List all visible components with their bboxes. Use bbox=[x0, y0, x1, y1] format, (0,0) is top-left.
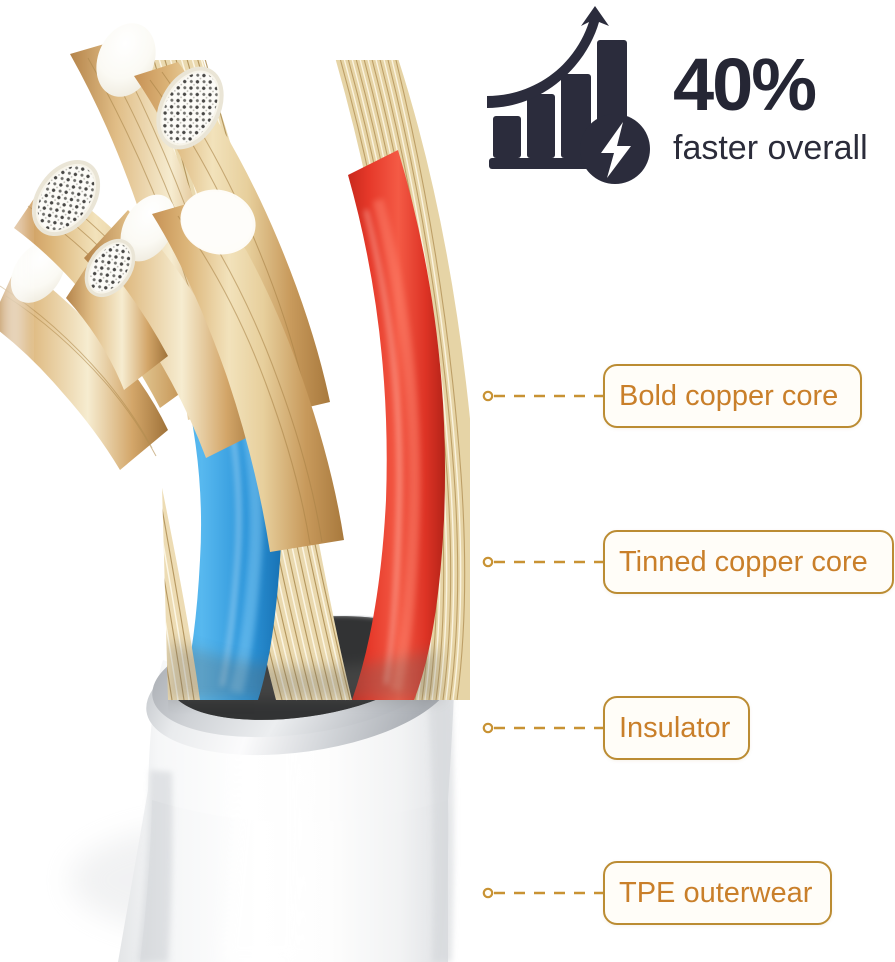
callout-box[interactable]: Bold copper core bbox=[603, 364, 862, 428]
callout-label: Insulator bbox=[619, 712, 730, 745]
callout-tinned-copper-core: Tinned copper core bbox=[482, 530, 894, 594]
callout-insulator: Insulator bbox=[482, 696, 750, 760]
leader-line-icon bbox=[482, 364, 612, 428]
callout-tpe-outerwear: TPE outerwear bbox=[482, 861, 832, 925]
stat-caption: faster overall bbox=[673, 128, 895, 168]
infographic-canvas: 40% faster overall Bold copper core Tinn… bbox=[0, 0, 895, 962]
callout-label: TPE outerwear bbox=[619, 877, 812, 910]
leader-line-icon bbox=[482, 861, 612, 925]
callout-label: Bold copper core bbox=[619, 380, 838, 413]
callout-box[interactable]: Insulator bbox=[603, 696, 750, 760]
callout-box[interactable]: Tinned copper core bbox=[603, 530, 894, 594]
growth-chart-lightning-icon bbox=[485, 2, 665, 187]
callout-box[interactable]: TPE outerwear bbox=[603, 861, 832, 925]
usb-cable-cutaway-illustration bbox=[0, 0, 500, 962]
stat-text-group: 40% faster overall bbox=[673, 46, 895, 168]
callout-bold-copper-core: Bold copper core bbox=[482, 364, 872, 428]
callout-label: Tinned copper core bbox=[619, 546, 868, 579]
performance-stat-block: 40% faster overall bbox=[485, 0, 895, 190]
leader-line-icon bbox=[482, 696, 612, 760]
leader-line-icon bbox=[482, 530, 612, 594]
stat-value: 40% bbox=[673, 46, 895, 124]
